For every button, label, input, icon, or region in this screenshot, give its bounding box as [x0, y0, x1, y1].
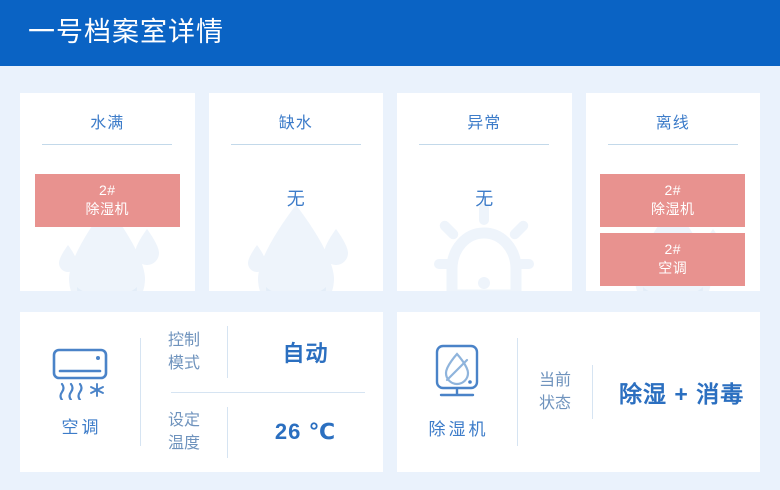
attribute-label: 当前 状态 — [518, 369, 592, 415]
device-attribute-table: 当前 状态 除湿 + 消毒 — [518, 312, 760, 472]
card-title: 缺水 — [209, 93, 384, 133]
device-identity: 除湿机 — [397, 344, 517, 440]
card-title: 水满 — [20, 93, 195, 133]
air-conditioner-icon — [49, 346, 111, 405]
device-attribute-row: 控制 模式 自动 — [141, 312, 383, 392]
attribute-label-line-2: 模式 — [141, 352, 227, 375]
attribute-label-line-1: 设定 — [141, 409, 227, 432]
attribute-label-line-1: 当前 — [518, 369, 592, 392]
attribute-value: 自动 — [228, 336, 383, 368]
device-attribute-row: 当前 状态 除湿 + 消毒 — [518, 365, 760, 419]
status-card-row: 水满 2# 除湿机 缺水 — [20, 93, 760, 291]
card-title: 异常 — [397, 93, 572, 133]
status-card-offline[interactable]: 离线 2# 除湿机 2# 空调 — [586, 93, 761, 291]
card-body: 2# 除湿机 2# 空调 — [586, 174, 761, 286]
status-card-abnormal[interactable]: 异常 无 — [397, 93, 572, 291]
badge-line-1: 2# — [600, 181, 745, 200]
status-card-water-shortage[interactable]: 缺水 无 — [209, 93, 384, 291]
device-panel-air-conditioner[interactable]: 空调 控制 模式 自动 设定 温度 — [20, 312, 383, 472]
device-panel-row: 空调 控制 模式 自动 设定 温度 — [20, 312, 760, 472]
status-empty-text: 无 — [475, 174, 493, 224]
device-panel-dehumidifier[interactable]: 除湿机 当前 状态 除湿 + 消毒 — [397, 312, 760, 472]
dehumidifier-icon — [429, 344, 485, 407]
device-alert-badge[interactable]: 2# 除湿机 — [35, 174, 180, 227]
device-identity: 空调 — [20, 346, 140, 438]
card-title-divider — [419, 144, 549, 145]
attribute-label-line-1: 控制 — [141, 329, 227, 352]
device-alert-badge[interactable]: 2# 除湿机 — [600, 174, 745, 227]
attribute-label: 控制 模式 — [141, 329, 227, 375]
card-body: 无 — [209, 174, 384, 224]
card-title-divider — [231, 144, 361, 145]
attribute-label-line-2: 状态 — [518, 392, 592, 415]
badge-line-1: 2# — [600, 240, 745, 259]
card-title-divider — [42, 144, 172, 145]
status-empty-text: 无 — [287, 174, 305, 224]
app-root: 一号档案室详情 水满 2# 除湿机 — [0, 0, 780, 490]
page-title: 一号档案室详情 — [28, 12, 224, 52]
device-alert-badge[interactable]: 2# 空调 — [600, 233, 745, 286]
attribute-label-line-2: 温度 — [141, 432, 227, 455]
badge-line-2: 空调 — [600, 259, 745, 278]
badge-line-1: 2# — [35, 181, 180, 200]
device-name-label: 除湿机 — [426, 415, 489, 440]
card-body: 无 — [397, 174, 572, 224]
attribute-value: 26 ℃ — [228, 419, 383, 445]
device-attribute-row: 设定 温度 26 ℃ — [141, 393, 383, 473]
badge-line-2: 除湿机 — [600, 200, 745, 219]
badge-line-2: 除湿机 — [35, 200, 180, 219]
attribute-value: 除湿 + 消毒 — [593, 375, 760, 409]
page-header: 一号档案室详情 — [0, 0, 780, 66]
attribute-label: 设定 温度 — [141, 409, 227, 455]
card-title: 离线 — [586, 93, 761, 133]
status-card-water-full[interactable]: 水满 2# 除湿机 — [20, 93, 195, 291]
device-name-label: 空调 — [59, 413, 102, 438]
card-title-divider — [608, 144, 738, 145]
card-body: 2# 除湿机 — [20, 174, 195, 227]
device-attribute-table: 控制 模式 自动 设定 温度 26 ℃ — [141, 312, 383, 472]
